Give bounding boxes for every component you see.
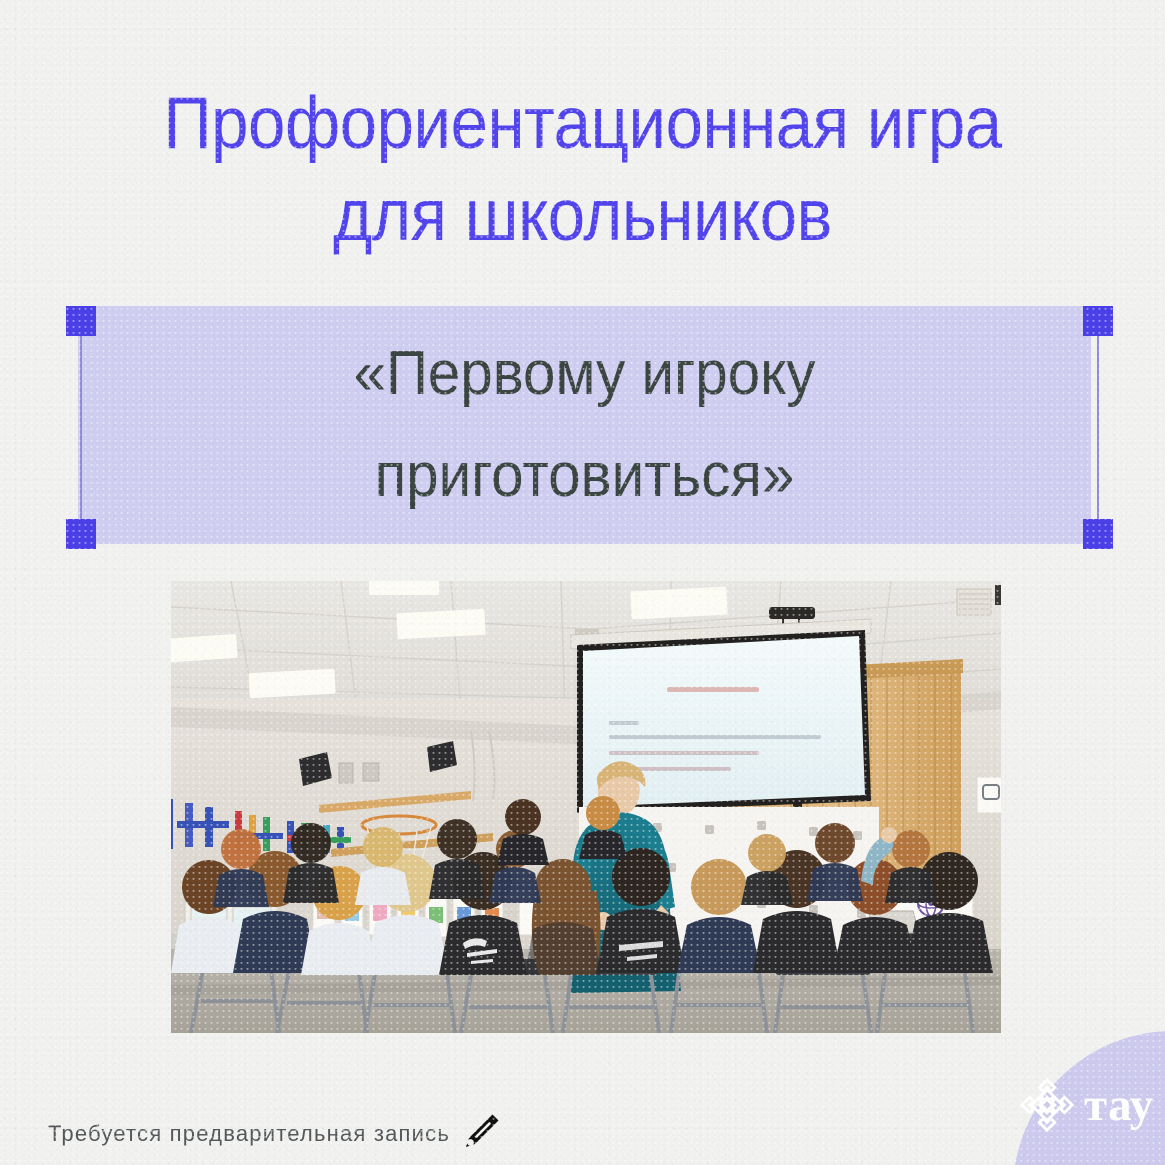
booking-note-text: Требуется предварительная запись bbox=[48, 1121, 450, 1147]
quote-line-1: «Первому игроку bbox=[354, 323, 816, 425]
banner-rule-left bbox=[80, 318, 82, 540]
event-photo bbox=[171, 581, 1001, 1033]
page-title: Профориентационная игра для школьников bbox=[0, 78, 1165, 262]
banner-corner-bottom-right bbox=[1083, 519, 1113, 549]
ornament-quatrefoil-icon bbox=[1016, 1074, 1078, 1136]
brand-wordmark: тау bbox=[1084, 1082, 1154, 1129]
banner-corner-top-right bbox=[1083, 306, 1113, 336]
quote-banner: «Первому игроку приготовиться» bbox=[78, 306, 1091, 544]
title-line-2: для школьников bbox=[47, 170, 1119, 262]
brand-logo[interactable]: тау bbox=[1016, 1074, 1154, 1136]
banner-corner-top-left bbox=[66, 306, 96, 336]
banner-corner-bottom-left bbox=[66, 519, 96, 549]
quote-text: «Первому игроку приготовиться» bbox=[108, 306, 1060, 544]
quote-line-2: приготовиться» bbox=[375, 425, 795, 527]
slide-canvas: Профориентационная игра для школьников «… bbox=[0, 0, 1165, 1165]
banner-rule-right bbox=[1097, 318, 1099, 540]
title-line-1: Профориентационная игра bbox=[47, 78, 1119, 170]
pencil-icon bbox=[461, 1112, 501, 1152]
booking-note: Требуется предварительная запись bbox=[48, 1112, 501, 1156]
